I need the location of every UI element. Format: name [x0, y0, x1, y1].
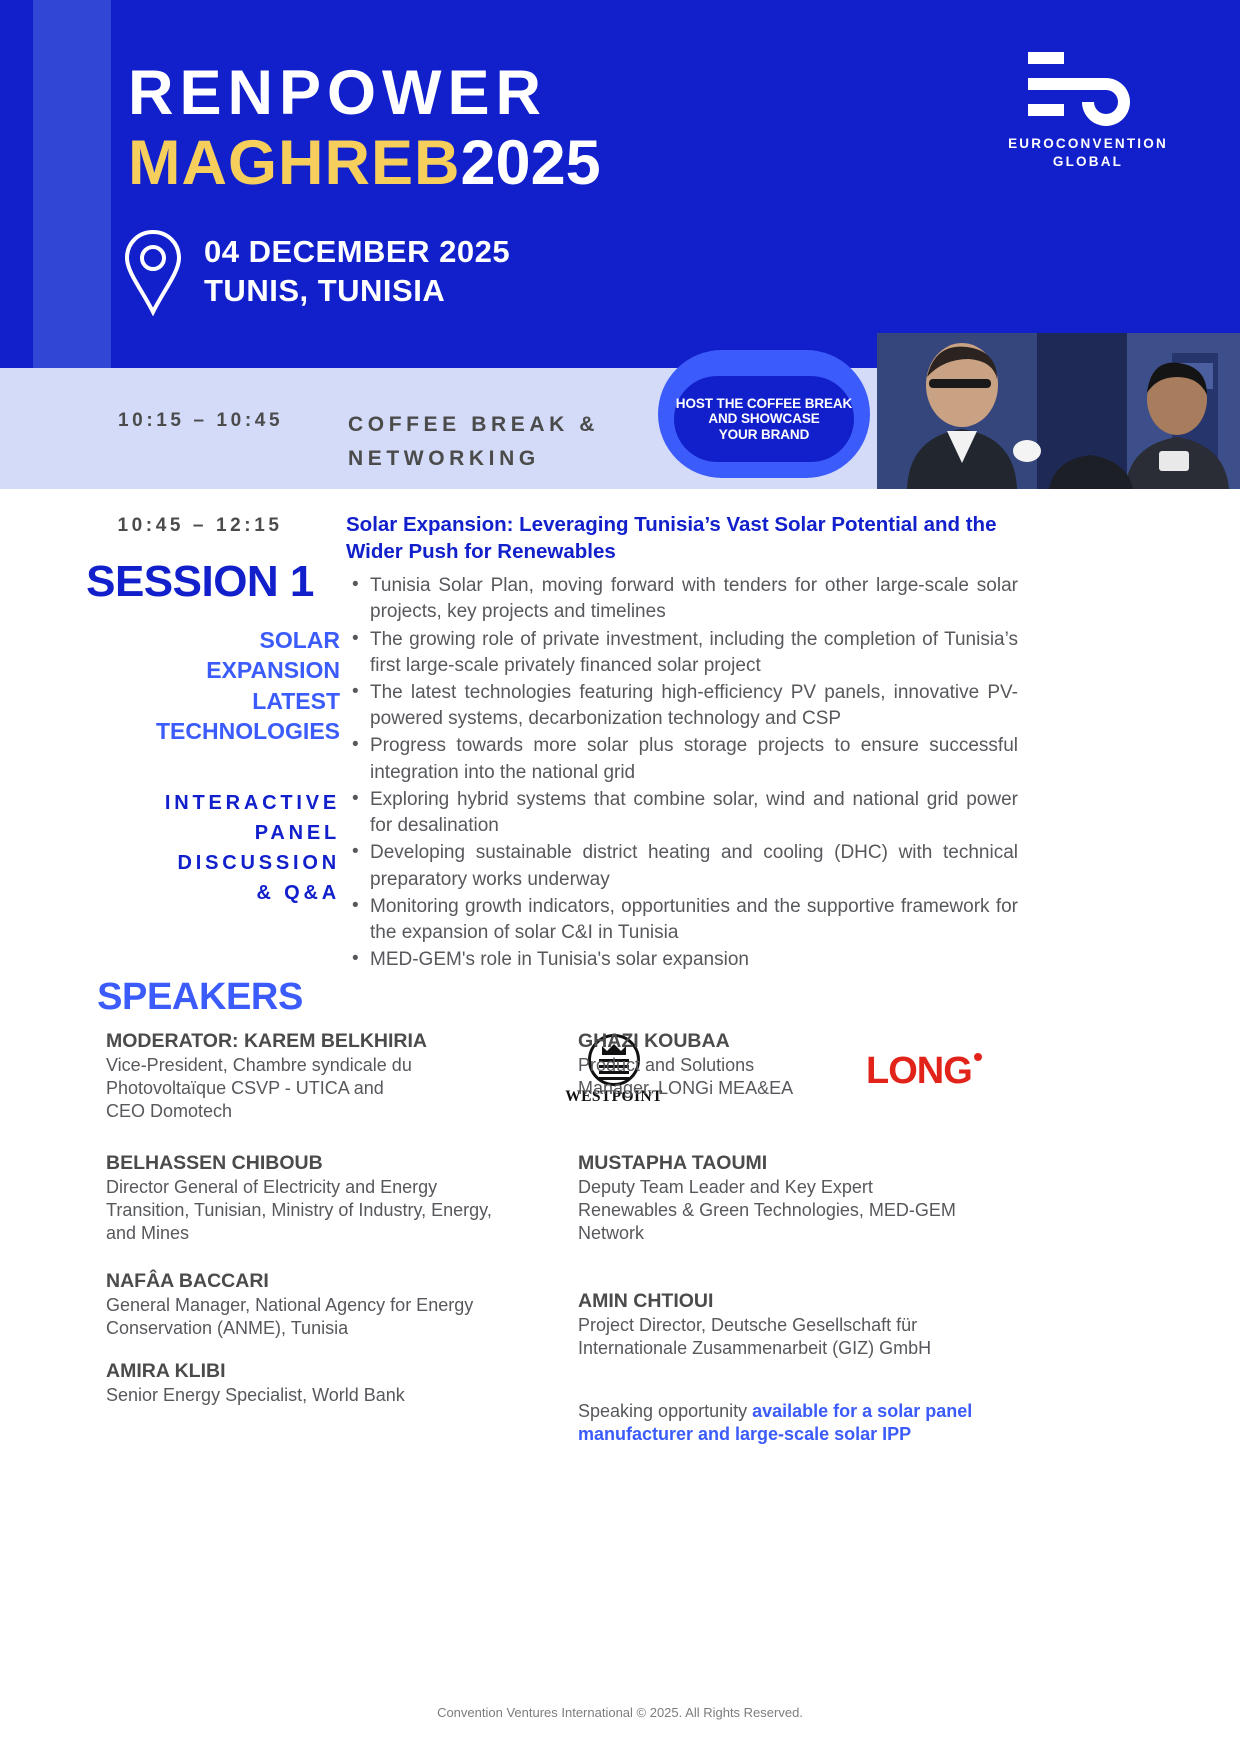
event-agenda-page: RENPOWER MAGHREB2025 04 DECEMBER 2025 TU…	[0, 0, 1240, 1754]
session-topic: SOLAR EXPANSION LATEST TECHNOLOGIES	[60, 625, 340, 746]
host-coffee-break-cta-text: HOST THE COFFEE BREAK AND SHOWCASE YOUR …	[676, 396, 852, 443]
session-topic-line-4: TECHNOLOGIES	[60, 716, 340, 746]
speaker-name: MUSTAPHA TAOUMI	[578, 1152, 998, 1175]
date-location-text: 04 DECEMBER 2025 TUNIS, TUNISIA	[204, 233, 510, 311]
list-item: The latest technologies featuring high-e…	[346, 680, 1018, 732]
speaker-name: AMIRA KLIBI	[106, 1360, 526, 1383]
list-item: Developing sustainable district heating …	[346, 840, 1018, 892]
session-format-line-3: DISCUSSION	[60, 848, 340, 878]
cta-line-3: YOUR BRAND	[676, 427, 852, 443]
networking-photo	[877, 333, 1240, 489]
speaker-name: NAFÂA BACCARI	[106, 1270, 526, 1293]
location-pin-icon	[122, 228, 184, 316]
session-topic-line-1: SOLAR	[60, 625, 340, 655]
session-bullet-list: Tunisia Solar Plan, moving forward with …	[346, 573, 1018, 973]
session-time: 10:45 – 12:15	[60, 515, 340, 537]
euroconvention-logo: EUROCONVENTION GLOBAL	[998, 48, 1178, 169]
session-format-line-4: & Q&A	[60, 878, 340, 908]
coffee-band-edge-stripe	[0, 368, 22, 489]
host-coffee-break-cta-inner[interactable]: HOST THE COFFEE BREAK AND SHOWCASE YOUR …	[674, 376, 854, 462]
speaking-opportunity-prefix: Speaking opportunity	[578, 1401, 752, 1421]
event-branding: RENPOWER MAGHREB2025	[128, 60, 848, 196]
speaker-role: Director General of Electricity and Ener…	[106, 1176, 506, 1245]
logo-text-global: GLOBAL	[998, 154, 1178, 169]
speaker-name: AMIN CHTIOUI	[578, 1290, 998, 1313]
list-item: MED-GEM's role in Tunisia's solar expans…	[346, 947, 1018, 973]
speaker-card: AMIN CHTIOUI Project Director, Deutsche …	[578, 1290, 998, 1360]
speaker-card: MODERATOR: KAREM BELKHIRIA Vice-Presiden…	[106, 1030, 526, 1123]
speaker-card: BELHASSEN CHIBOUB Director General of El…	[106, 1152, 526, 1245]
speaker-role: Product and Solutions Manager, LONGi MEA…	[578, 1054, 828, 1100]
coffee-break-title: COFFEE BREAK & NETWORKING	[348, 408, 648, 475]
speakers-heading: SPEAKERS	[60, 976, 340, 1019]
page-header: RENPOWER MAGHREB2025 04 DECEMBER 2025 TU…	[0, 0, 1240, 368]
brand-maghreb: MAGHREB	[128, 128, 461, 198]
speaker-name: BELHASSEN CHIBOUB	[106, 1152, 526, 1175]
event-date-location: 04 DECEMBER 2025 TUNIS, TUNISIA	[122, 228, 510, 316]
speaker-role: Deputy Team Leader and Key Expert Renewa…	[578, 1176, 958, 1245]
speaker-role: Vice-President, Chambre syndicale du Pho…	[106, 1054, 426, 1123]
networking-photo-graphic	[877, 333, 1240, 489]
list-item: The growing role of private investment, …	[346, 627, 1018, 679]
event-city: TUNIS, TUNISIA	[204, 272, 510, 311]
longi-logo-text: LONG	[866, 1050, 972, 1092]
list-item: Exploring hybrid systems that combine so…	[346, 787, 1018, 839]
session-number: SESSION 1	[60, 557, 340, 607]
euroconvention-mark-icon	[1026, 48, 1150, 126]
session-content: Solar Expansion: Leveraging Tunisia’s Va…	[346, 511, 1018, 974]
logo-text-euroconvention: EUROCONVENTION	[998, 136, 1178, 151]
session-title: Solar Expansion: Leveraging Tunisia’s Va…	[346, 511, 1018, 565]
coffee-break-time: 10:15 – 10:45	[118, 410, 283, 432]
session-format-line-1: INTERACTIVE	[60, 788, 340, 818]
cta-line-1: HOST THE COFFEE BREAK	[676, 396, 852, 412]
session-format-line-2: PANEL	[60, 818, 340, 848]
speakers-section: MODERATOR: KAREM BELKHIRIA Vice-Presiden…	[0, 1030, 1240, 1450]
session-topic-line-3: LATEST	[60, 686, 340, 716]
brand-maghreb-year: MAGHREB2025	[128, 130, 848, 196]
cta-line-2: AND SHOWCASE	[676, 411, 852, 427]
list-item: Monitoring growth indicators, opportunit…	[346, 894, 1018, 946]
longi-logo-dot-icon	[974, 1053, 982, 1061]
speaking-opportunity-note: Speaking opportunity available for a sol…	[578, 1400, 998, 1446]
speaker-card: AMIRA KLIBI Senior Energy Specialist, Wo…	[106, 1360, 526, 1407]
speaker-name: MODERATOR: KAREM BELKHIRIA	[106, 1030, 526, 1053]
longi-logo: LONG	[866, 1050, 982, 1093]
footer-copyright: Convention Ventures International © 2025…	[0, 1705, 1240, 1720]
header-accent-stripe	[33, 0, 111, 368]
speaker-card: NAFÂA BACCARI General Manager, National …	[106, 1270, 526, 1340]
list-item: Progress towards more solar plus storage…	[346, 733, 1018, 785]
session-sidebar: 10:45 – 12:15 SESSION 1 SOLAR EXPANSION …	[60, 489, 340, 1019]
list-item: Tunisia Solar Plan, moving forward with …	[346, 573, 1018, 625]
speaker-role: Project Director, Deutsche Gesellschaft …	[578, 1314, 998, 1360]
header-edge-stripe	[0, 0, 22, 368]
speaker-card: MUSTAPHA TAOUMI Deputy Team Leader and K…	[578, 1152, 998, 1245]
brand-year: 2025	[461, 128, 601, 198]
speaker-role: General Manager, National Agency for Ene…	[106, 1294, 518, 1340]
speaker-role: Senior Energy Specialist, World Bank	[106, 1384, 518, 1407]
event-date: 04 DECEMBER 2025	[204, 233, 510, 272]
session-format: INTERACTIVE PANEL DISCUSSION & Q&A	[60, 788, 340, 908]
host-coffee-break-cta[interactable]: HOST THE COFFEE BREAK AND SHOWCASE YOUR …	[658, 350, 870, 478]
session-topic-line-2: EXPANSION	[60, 655, 340, 685]
brand-renpower: RENPOWER	[128, 60, 848, 126]
